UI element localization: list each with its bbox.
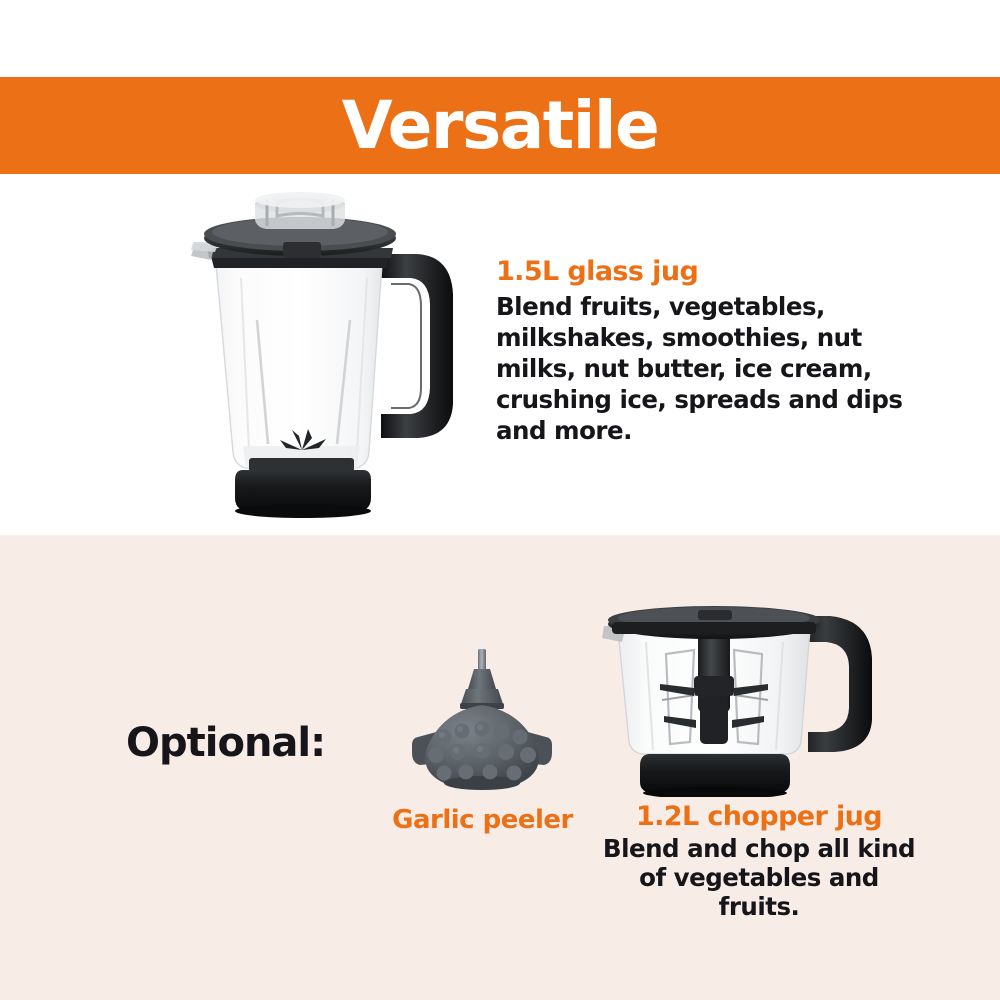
garlic-peeler-icon bbox=[370, 645, 595, 795]
banner-title: Versatile bbox=[342, 93, 659, 159]
glass-jug-text-block: 1.5L glass jug Blend fruits, vegetables,… bbox=[496, 256, 916, 446]
chopper-jug-description: Blend and chop all kind of vegetables an… bbox=[598, 834, 920, 921]
chopper-jug-image bbox=[598, 592, 920, 797]
chopper-jug-icon bbox=[598, 592, 920, 797]
glass-jug-heading: 1.5L glass jug bbox=[496, 256, 916, 287]
garlic-peeler-image bbox=[370, 645, 595, 795]
chopper-jug-item: 1.2L chopper jug Blend and chop all kind… bbox=[598, 592, 920, 921]
glass-jug-description: Blend fruits, vegetables, milkshakes, sm… bbox=[496, 291, 916, 446]
infographic-page: Versatile bbox=[0, 0, 1000, 1000]
glass-blender-jug-icon bbox=[185, 182, 485, 522]
garlic-peeler-heading: Garlic peeler bbox=[370, 805, 595, 835]
header-banner: Versatile bbox=[0, 77, 1000, 174]
chopper-jug-heading: 1.2L chopper jug bbox=[598, 801, 920, 832]
glass-blender-jug-image bbox=[185, 182, 485, 522]
glass-jug-section: 1.5L glass jug Blend fruits, vegetables,… bbox=[0, 174, 1000, 535]
garlic-peeler-item: Garlic peeler bbox=[370, 645, 595, 835]
optional-label: Optional: bbox=[126, 720, 325, 766]
